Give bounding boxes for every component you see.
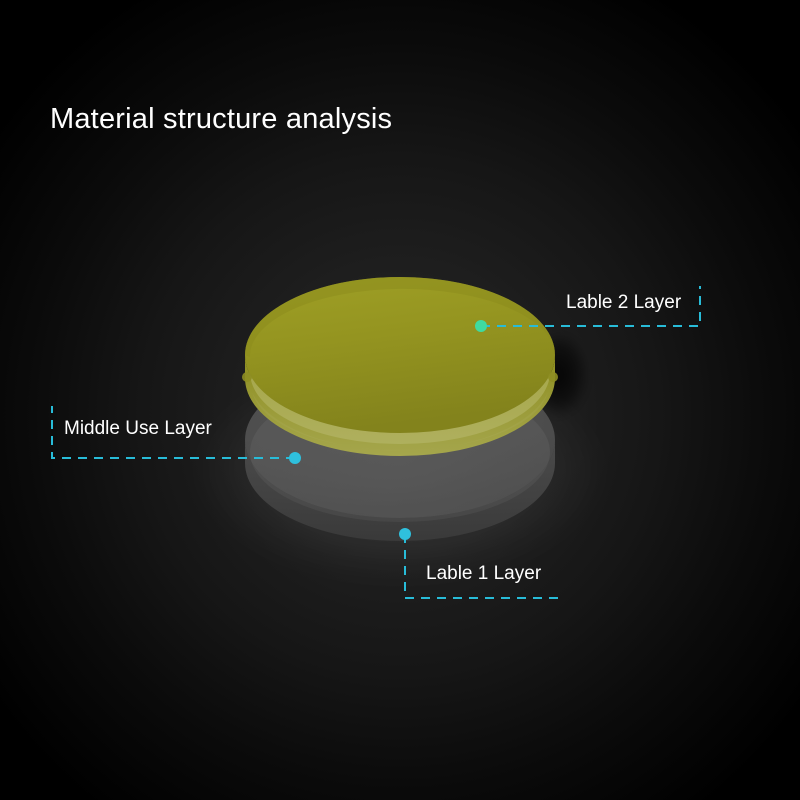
callout-dot-label-2[interactable] xyxy=(475,320,487,332)
rim-nub-left xyxy=(242,372,252,382)
rim-nub-right xyxy=(548,372,558,382)
callout-dot-label-1[interactable] xyxy=(399,528,411,540)
callout-text-label-middle: Middle Use Layer xyxy=(64,418,212,440)
callout-text-label-2: Lable 2 Layer xyxy=(566,292,681,314)
material-structure-illustration xyxy=(0,0,800,800)
callout-dot-label-middle[interactable] xyxy=(289,452,301,464)
callout-text-label-1: Lable 1 Layer xyxy=(426,563,541,585)
diagram-canvas: Material structure analysis xyxy=(0,0,800,800)
